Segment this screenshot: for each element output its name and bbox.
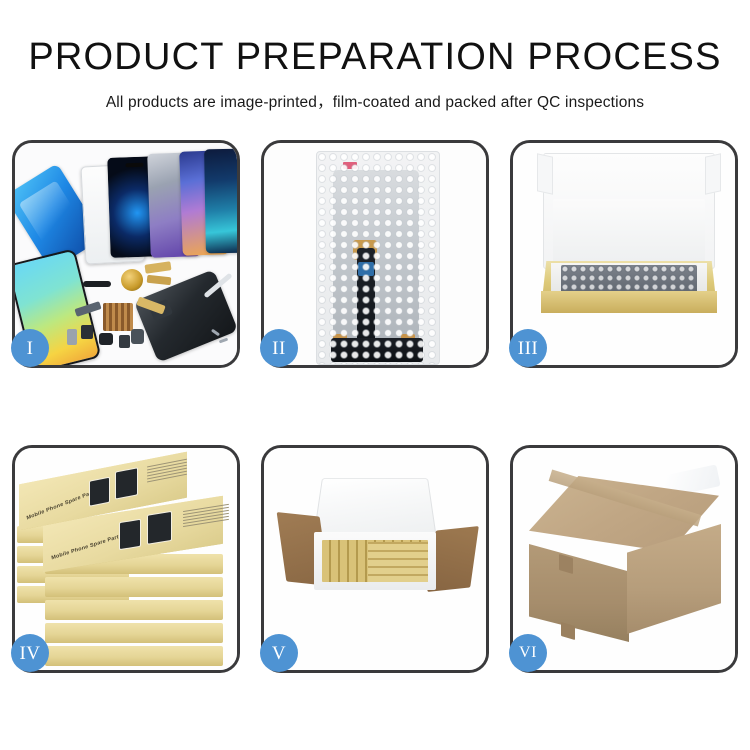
- tray-front-wall: [541, 291, 717, 313]
- speaker-part: [83, 281, 111, 287]
- lid-flap-right: [705, 153, 721, 194]
- step-badge-3: III: [509, 329, 547, 367]
- foam-lid: [313, 478, 436, 536]
- box-window: [115, 467, 138, 499]
- step-3-photo: [513, 143, 735, 365]
- step-badge-5: V: [260, 634, 298, 672]
- packed-boxes: [368, 542, 428, 582]
- chip-array-part: [103, 303, 133, 331]
- step-4-photo: Mobile Phone Spare Parts Mobile Phone Sp…: [15, 448, 237, 670]
- process-step-2: II: [261, 140, 489, 368]
- kraft-box: [45, 600, 223, 620]
- page-header: PRODUCT PREPARATION PROCESS All products…: [0, 0, 750, 112]
- button-part: [99, 333, 113, 345]
- box-window: [147, 511, 172, 545]
- step-badge-1: I: [11, 329, 49, 367]
- box-window: [89, 477, 110, 507]
- lid-flap-left: [537, 153, 553, 194]
- process-step-4: Mobile Phone Spare Parts Mobile Phone Sp…: [12, 445, 240, 673]
- kraft-box: [45, 623, 223, 643]
- step-badge-6: VI: [509, 634, 547, 672]
- process-step-3: III: [510, 140, 738, 368]
- bubble-texture: [317, 152, 439, 364]
- process-step-grid: I II: [12, 140, 738, 673]
- process-step-1: I: [12, 140, 240, 368]
- sim-tray-part: [67, 329, 77, 345]
- kraft-box: [45, 577, 223, 597]
- step-6-photo: [513, 448, 735, 670]
- flex-cable-part: [147, 275, 172, 285]
- screw-part: [219, 338, 228, 344]
- button-part: [119, 335, 130, 348]
- phone-screen-teal: [204, 149, 237, 254]
- button-part: [81, 325, 93, 339]
- carton-body: [306, 584, 444, 646]
- process-step-6: VI: [510, 445, 738, 673]
- carton-left-face: [529, 544, 629, 642]
- flex-cable-part: [145, 261, 172, 274]
- box-window: [119, 519, 141, 550]
- step-5-photo: [264, 448, 486, 670]
- process-step-5: V: [261, 445, 489, 673]
- step-1-photo: [15, 143, 237, 365]
- page-subtitle: All products are image-printed，film-coat…: [0, 79, 750, 112]
- coil-part: [121, 269, 143, 291]
- bubble-wrap-bag: [316, 151, 440, 365]
- carton-mark: [561, 622, 575, 640]
- step-2-photo: [264, 143, 486, 365]
- page-title: PRODUCT PREPARATION PROCESS: [0, 0, 750, 79]
- kraft-box: [45, 646, 223, 666]
- step-badge-4: IV: [11, 634, 49, 672]
- step-badge-2: II: [260, 329, 298, 367]
- box-stack: Mobile Phone Spare Parts Mobile Phone Sp…: [15, 448, 237, 670]
- camera-module-part: [131, 329, 144, 344]
